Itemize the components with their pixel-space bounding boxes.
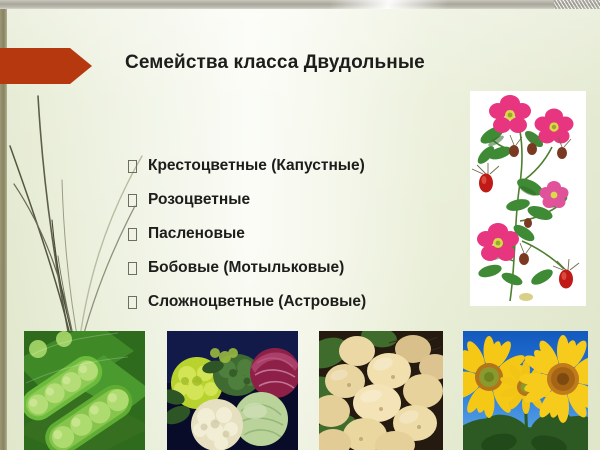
box-bullet-icon	[128, 284, 148, 318]
list-item-label: Пасленовые	[148, 217, 245, 251]
top-silver-band	[0, 0, 600, 9]
box-bullet-icon	[128, 250, 148, 284]
title-arrow-body	[0, 48, 70, 84]
cabbage-photo	[167, 331, 298, 450]
list-item[interactable]: Бобовые (Мотыльковые)	[128, 250, 458, 284]
top-band-hatch-icon	[554, 0, 600, 9]
list-item-label: Розоцветные	[148, 183, 250, 217]
list-item-label: Бобовые (Мотыльковые)	[148, 251, 344, 285]
page-title: Семейства класса Двудольные	[125, 50, 485, 76]
list-item[interactable]: Пасленовые	[128, 216, 458, 250]
list-item[interactable]: Сложноцветные (Астровые)	[128, 284, 458, 318]
potato-photo	[319, 331, 443, 450]
list-item[interactable]: Розоцветные	[128, 182, 458, 216]
top-band-sheen	[330, 0, 460, 9]
box-bullet-icon	[128, 182, 148, 216]
sunflower-photo	[463, 331, 588, 450]
peas-photo	[24, 331, 145, 450]
title-arrow-tip	[70, 48, 92, 84]
list-item-label: Крестоцветные (Капустные)	[148, 149, 365, 183]
family-list: Крестоцветные (Капустные) Розоцветные Па…	[128, 148, 458, 318]
wild-rose-illustration	[470, 91, 586, 306]
box-bullet-icon	[128, 148, 148, 182]
presentation-slide: Семейства класса Двудольные Крестоцветны…	[0, 0, 600, 450]
list-item[interactable]: Крестоцветные (Капустные)	[128, 148, 458, 182]
title-arrow-shape	[0, 48, 92, 84]
box-bullet-icon	[128, 216, 148, 250]
list-item-label: Сложноцветные (Астровые)	[148, 285, 366, 319]
